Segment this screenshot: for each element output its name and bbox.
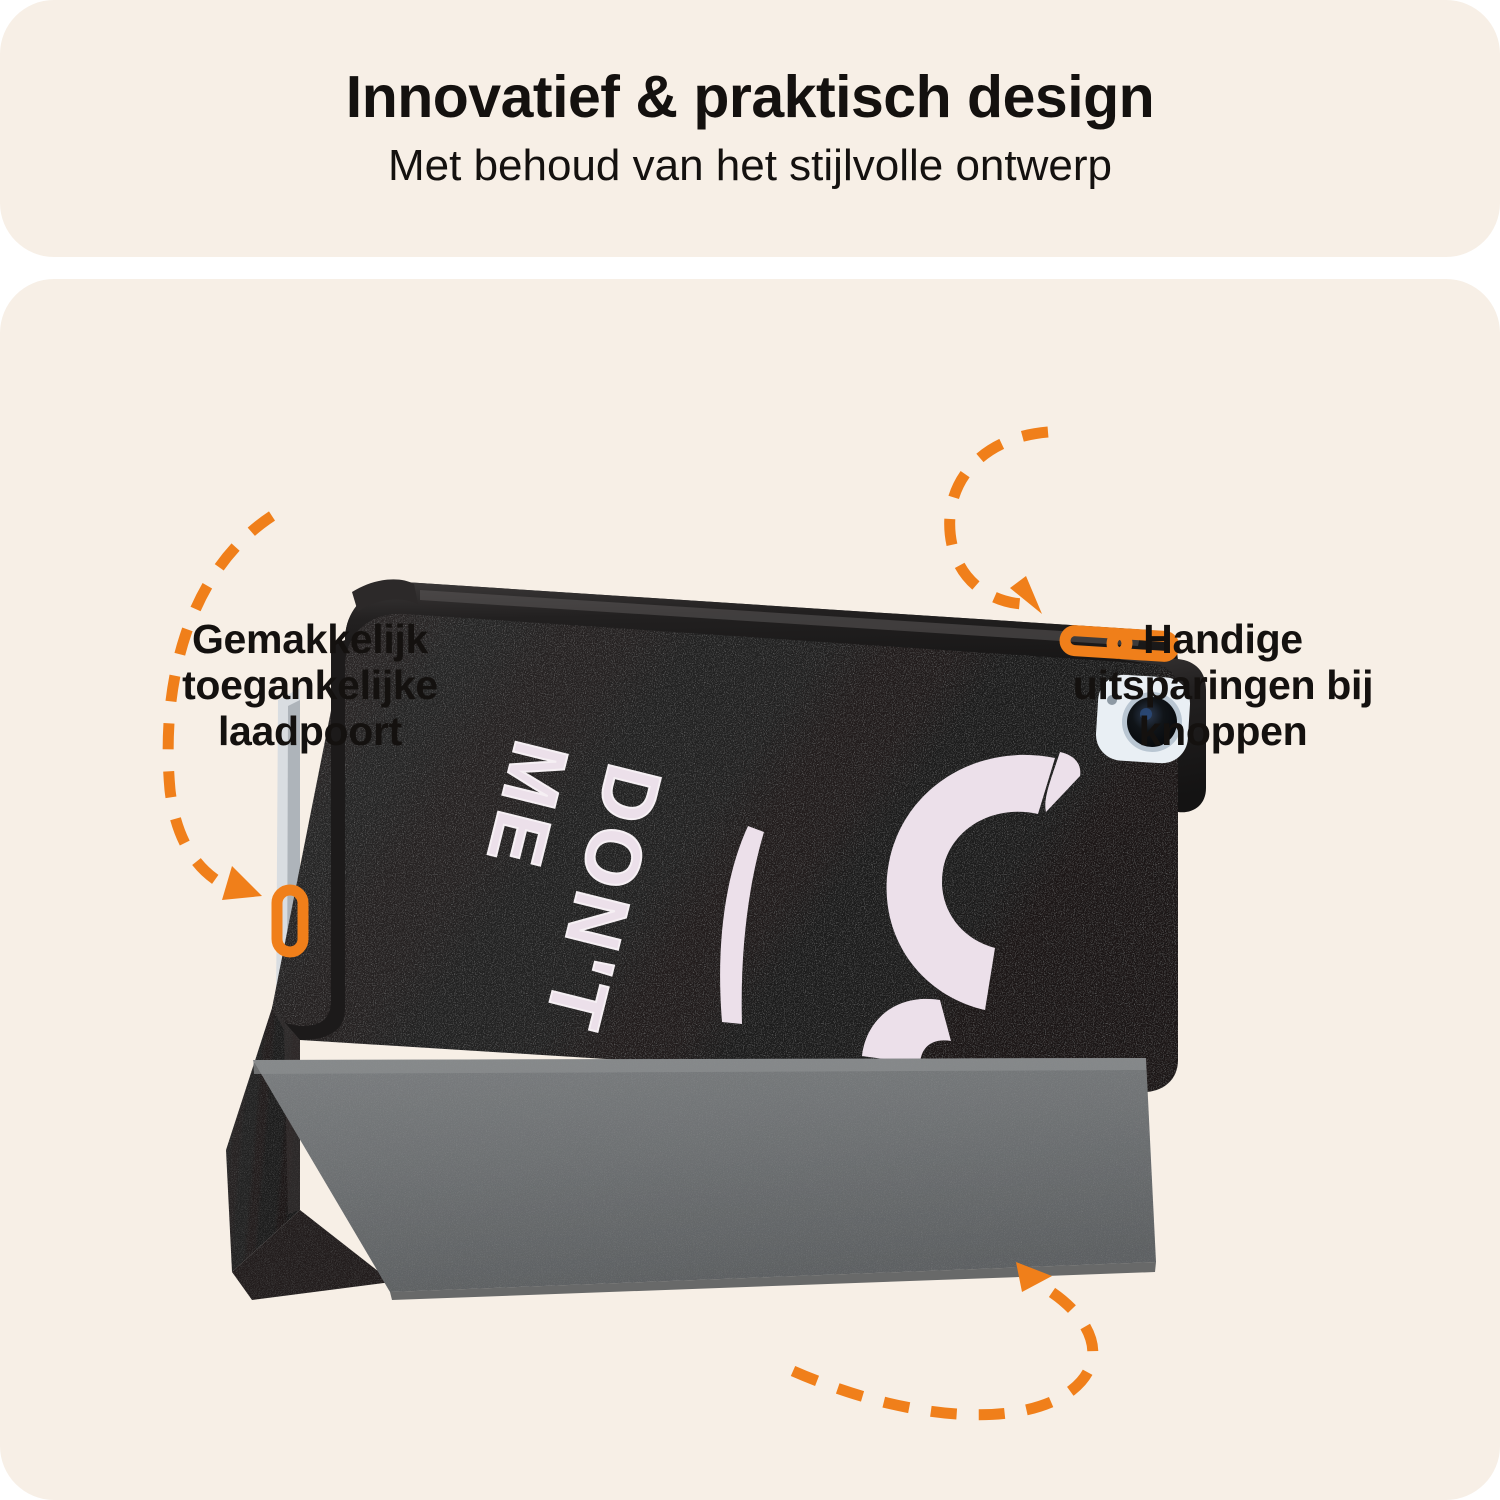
- callout-label-button-cutouts: Handige uitsparingen bij knoppen: [1028, 617, 1418, 755]
- svg-text:ME: ME: [469, 733, 586, 881]
- tablet-with-case: DON'T TOUCH ME: [0, 279, 1500, 1500]
- case-rear-flap: [226, 1008, 392, 1300]
- arrow-to-button-cutouts: [950, 432, 1048, 614]
- arrow-to-stand: [793, 1262, 1093, 1415]
- charging-port-cutout-highlight: [277, 890, 303, 952]
- page-title: Innovatief & praktisch design: [346, 67, 1154, 129]
- page-subtitle: Met behoud van het stijlvolle ontwerp: [388, 143, 1112, 189]
- svg-text:DON'T TOUCH: DON'T TOUCH: [445, 756, 679, 1373]
- case-artwork: DON'T TOUCH ME: [352, 733, 1081, 1373]
- product-illustration: DON'T TOUCH ME: [0, 279, 1500, 1500]
- callout-arrows: [0, 279, 1500, 1500]
- multifunctional-stand: [253, 1058, 1156, 1300]
- callout-label-charging-port: Gemakkelijk toegankelijke laadpoort: [110, 617, 510, 755]
- product-feature-infographic: Innovatief & praktisch design Met behoud…: [0, 0, 1500, 1500]
- header-card: Innovatief & praktisch design Met behoud…: [0, 0, 1500, 257]
- content-card: DON'T TOUCH ME: [0, 279, 1500, 1500]
- case-print-text: DON'T TOUCH ME: [352, 733, 679, 1373]
